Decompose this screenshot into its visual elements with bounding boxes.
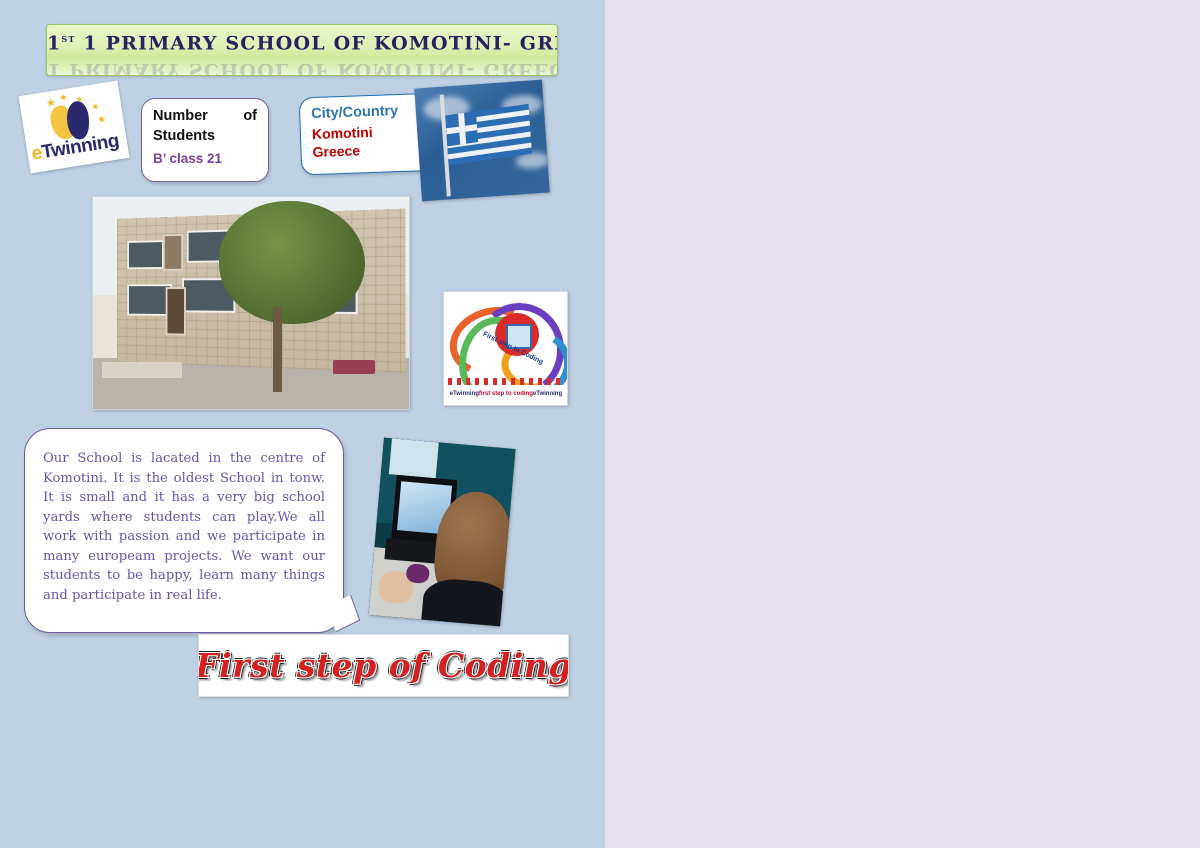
first-step-to-coding-logo-card-left: First step to Coding eTwinning first ste… [443,291,568,406]
dotted-strip [448,378,564,385]
etwinning-rest: Twinning [40,130,120,163]
number-of-students-card: Number of Students B’ class 21 [141,98,269,182]
students-label-line1: Number of [153,108,257,124]
greek-school-description-bubble: Our School is lacated in the centre of K… [24,428,344,633]
students-word-of: of [243,108,257,124]
poster-page: 1st 1 PRIMARY SCHOOL OF KOMOTINI- GREECE… [0,0,1200,848]
left-panel: 1st 1 PRIMARY SCHOOL OF KOMOTINI- GREECE… [0,0,605,848]
students-word-number: Number [153,108,208,124]
star-icon: ★ [59,93,68,102]
left-title-banner: 1st 1 PRIMARY SCHOOL OF KOMOTINI- GREECE… [46,24,558,76]
first-step-of-coding-text: First step of Coding [198,646,569,685]
etwinning-logo-card-left: ★ ★ ★ ★ ★ eTwinning [19,81,130,174]
students-label-line2: Students [153,128,257,144]
students-value: B’ class 21 [153,151,222,166]
greek-flag-photo [414,80,550,202]
student-at-computer-photo [368,438,515,627]
city-country-label: City/Country [311,103,399,122]
etwinning-mini-label-2: eTwinning [533,391,562,397]
country-value: Greece [312,142,360,160]
city-value: Komotini [312,124,373,142]
left-title-reflection: 1 PRIMARY SCHOOL OF KOMOTINI- GREECE [47,59,557,76]
greek-school-building-photo [92,196,410,410]
logo-footer-bar: eTwinning first step to coding eTwinning [448,385,564,403]
etwinning-blue-figure-icon [67,101,90,139]
star-icon: ★ [90,102,99,111]
greek-school-description-text: Our School is lacated in the centre of K… [25,429,343,605]
left-title-main: 1 PRIMARY SCHOOL OF KOMOTINI- GREECE [83,32,558,54]
logo-strip-label: first step to coding [479,391,533,397]
star-icon: ★ [97,116,107,125]
first-step-of-coding-banner: First step of Coding [198,634,569,697]
left-title-text: 1st 1 PRIMARY SCHOOL OF KOMOTINI- GREECE [47,32,557,54]
title-ordinal: st [61,32,75,45]
right-panel: YAYLA PRIMARY SCHOOL / Zeynep Özdoğan(FL… [605,0,1200,848]
etwinning-mini-label: eTwinning [450,391,479,397]
